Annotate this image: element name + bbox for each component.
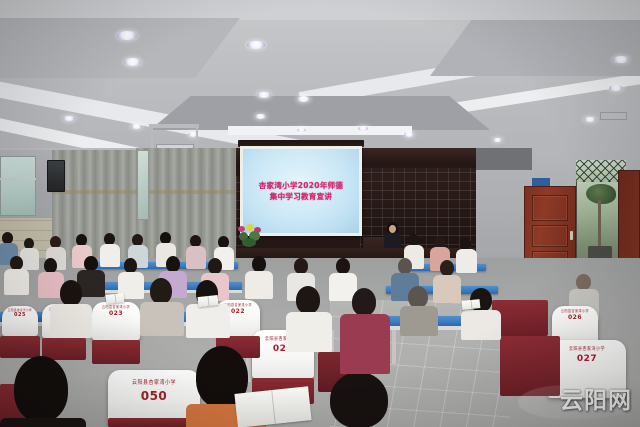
projection-screen-frame: 杏家湾小学2020年师德 集中学习教育宣讲 [240, 146, 362, 236]
head [352, 288, 376, 316]
wall-speaker [47, 160, 65, 192]
torso [4, 269, 29, 295]
ceiling-projector-right [600, 112, 627, 120]
projection-screen: 杏家湾小学2020年师德 集中学习教育宣讲 [243, 149, 359, 233]
ceiling [0, 0, 640, 152]
flower-leaf [242, 238, 256, 247]
projection-title-line-2: 集中学习教育宣讲 [270, 191, 332, 202]
presenter-head [389, 225, 396, 233]
head [408, 286, 428, 308]
outdoor-tree-trunk [598, 200, 601, 246]
head [336, 258, 350, 274]
door-panel-mid [532, 225, 568, 247]
torso [140, 302, 184, 336]
downlight-12 [493, 138, 502, 142]
projector-mount-arm [151, 126, 153, 148]
head [576, 274, 591, 290]
torso [186, 304, 230, 338]
door-handle[interactable] [570, 231, 573, 240]
window-mullion [0, 178, 36, 180]
torso [400, 306, 438, 336]
head [208, 258, 222, 274]
notebook-small [198, 295, 219, 307]
torso [456, 249, 477, 273]
notebook-small [462, 299, 481, 310]
ceiling-coffer-left-outer [0, 18, 240, 78]
interior-window-slot [137, 150, 149, 220]
chair-school-name: 云阳县杏家湾小学 [132, 378, 176, 386]
right-wall-upper-dark [476, 148, 532, 170]
head [252, 256, 266, 272]
open-notebook [234, 386, 311, 427]
head [14, 356, 68, 422]
chair-school-name: 云阳县杏家湾小学 [569, 346, 605, 353]
outdoor-tree-canopy [586, 184, 616, 204]
downlight-16 [297, 128, 306, 132]
head [150, 278, 172, 304]
downlight-9 [255, 114, 266, 119]
downlight-6 [63, 116, 75, 121]
downlight-2 [247, 41, 265, 49]
chair-number: 027 [577, 354, 597, 364]
lecture-hall-photo: 杏家湾小学2020年师德 集中学习教育宣讲 [0, 0, 640, 427]
projector-mount-arm-2 [196, 126, 198, 148]
chair-number: 022 [231, 308, 245, 315]
torso [245, 271, 273, 299]
head [166, 256, 180, 272]
seat-back [0, 336, 40, 358]
downlight-13 [613, 56, 629, 63]
downlight-4 [257, 92, 271, 98]
downlight-5 [297, 96, 310, 102]
head [294, 258, 308, 274]
ceiling-coffer-right [430, 20, 640, 76]
downlight-1 [117, 31, 137, 40]
left-window [0, 156, 36, 216]
ceiling-band-top [0, 0, 640, 20]
downlight-11 [404, 132, 414, 137]
chair-school-name: 云阳县杏家湾小学 [102, 305, 130, 310]
head [398, 258, 412, 274]
head [440, 260, 454, 276]
projection-title-line-1: 杏家湾小学2020年师德 [259, 180, 343, 191]
head [44, 258, 57, 273]
site-watermark: 云阳网 [560, 381, 632, 415]
chair-number: 023 [109, 310, 123, 317]
torso [50, 304, 92, 338]
chair-school-name: 云阳县杏家湾小学 [561, 309, 589, 314]
torso [461, 310, 501, 340]
head [84, 256, 98, 271]
chair-number: 050 [141, 389, 168, 403]
torso [100, 244, 120, 267]
torso [340, 314, 390, 374]
torso [286, 312, 332, 352]
ceiling-inner-slot [228, 126, 412, 135]
torso [0, 418, 86, 427]
torso [433, 275, 461, 303]
head [10, 256, 23, 270]
flower-arrangement [236, 224, 266, 248]
chair-number: 025 [14, 312, 26, 318]
chair-number: 026 [568, 314, 582, 321]
desk-leg-2 [392, 330, 396, 364]
projector-mount-bracket [149, 124, 199, 128]
head [124, 258, 137, 273]
downlight-15 [584, 117, 596, 122]
downlight-10 [358, 126, 368, 131]
head [60, 280, 82, 306]
door-panel-top [532, 195, 568, 221]
head [296, 286, 320, 314]
downlight-7 [131, 124, 142, 129]
downlight-14 [609, 85, 623, 91]
torso [186, 246, 206, 269]
seat-back [92, 340, 140, 364]
seat-back [500, 336, 560, 396]
chair-cover-025: 云阳县杏家湾小学 025 [2, 306, 38, 336]
chair-cover-023: 云阳县杏家湾小学 023 [92, 302, 140, 340]
ceiling-coffer-center [150, 96, 490, 130]
head [330, 372, 388, 427]
downlight-3 [124, 58, 141, 66]
flower-petal [246, 224, 254, 231]
torso [20, 248, 39, 270]
chair-school-name: 云阳县杏家湾小学 [8, 308, 32, 313]
notebook-small [106, 293, 125, 304]
